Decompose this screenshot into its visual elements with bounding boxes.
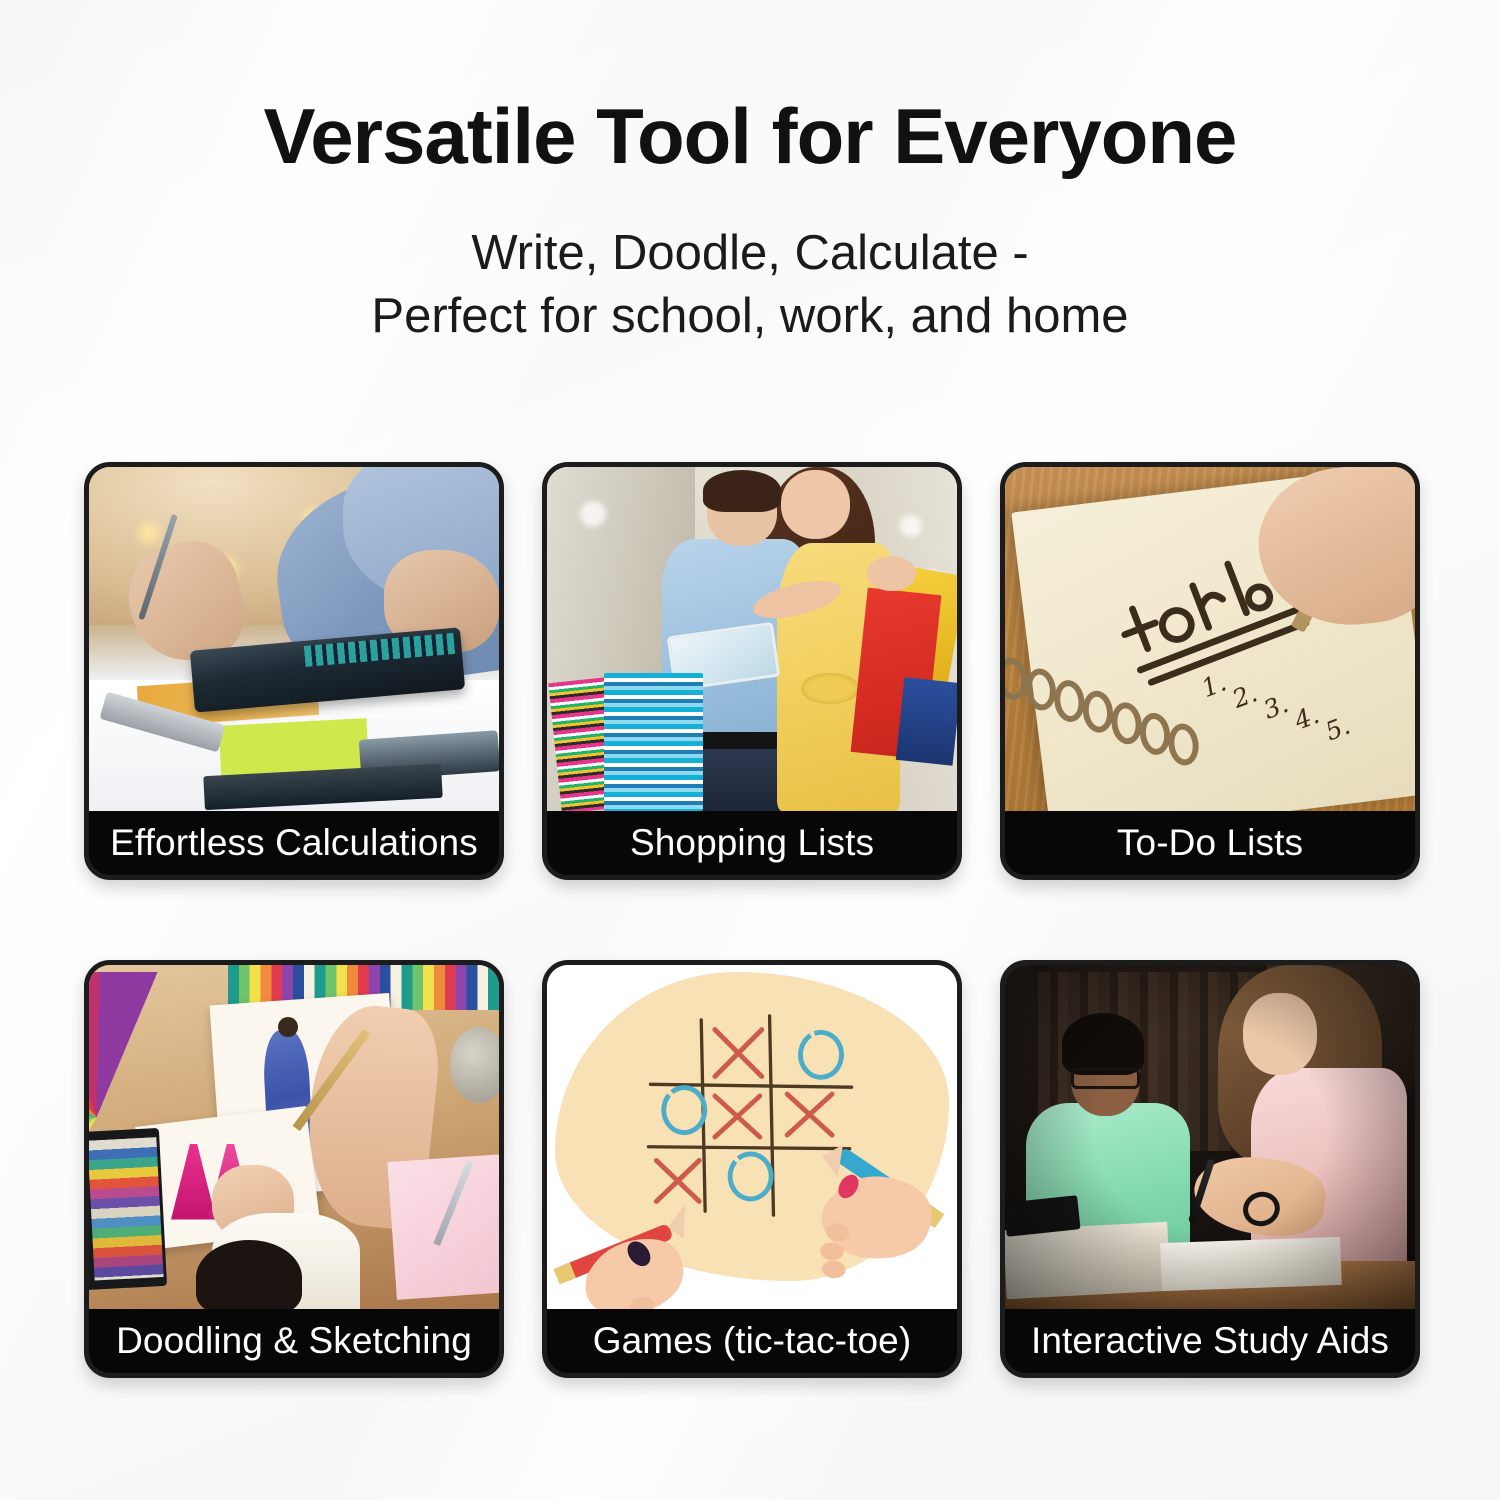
card-image-shopping-lists — [547, 467, 957, 811]
page-title: Versatile Tool for Everyone — [0, 96, 1500, 178]
card-image-to-do-lists: 1. 2. 3. 4. 5. — [1005, 467, 1415, 811]
feature-card-to-do-lists[interactable]: 1. 2. 3. 4. 5. — [1000, 462, 1420, 880]
header: Versatile Tool for Everyone Write, Doodl… — [0, 0, 1500, 347]
subtitle-line-2: Perfect for school, work, and home — [0, 285, 1500, 348]
card-label-doodling-sketching: Doodling & Sketching — [89, 1309, 499, 1373]
svg-text:4.: 4. — [1289, 699, 1323, 735]
product-infographic: Versatile Tool for Everyone Write, Doodl… — [0, 0, 1500, 1500]
card-label-interactive-study-aids: Interactive Study Aids — [1005, 1309, 1415, 1373]
right-hand-with-blue-pencil — [547, 965, 957, 1309]
svg-text:3.: 3. — [1259, 689, 1292, 725]
feature-card-games-tic-tac-toe[interactable]: Games (tic-tac-toe) — [542, 960, 962, 1378]
card-label-shopping-lists: Shopping Lists — [547, 811, 957, 875]
card-label-to-do-lists: To-Do Lists — [1005, 811, 1415, 875]
feature-card-doodling-sketching[interactable]: Doodling & Sketching — [84, 960, 504, 1378]
feature-card-effortless-calculations[interactable]: Effortless Calculations — [84, 462, 504, 880]
page-subtitle: Write, Doodle, Calculate - Perfect for s… — [0, 222, 1500, 347]
card-label-games-tic-tac-toe: Games (tic-tac-toe) — [547, 1309, 957, 1373]
svg-text:5.: 5. — [1321, 710, 1354, 746]
subtitle-line-1: Write, Doodle, Calculate - — [0, 222, 1500, 285]
feature-card-interactive-study-aids[interactable]: Interactive Study Aids — [1000, 960, 1420, 1378]
card-image-effortless-calculations — [89, 467, 499, 811]
feature-card-grid: Effortless Calculations — [84, 462, 1420, 1378]
card-label-effortless-calculations: Effortless Calculations — [89, 811, 499, 875]
card-image-interactive-study-aids — [1005, 965, 1415, 1309]
card-image-doodling-sketching — [89, 965, 499, 1309]
card-image-games-tic-tac-toe — [547, 965, 957, 1309]
feature-card-shopping-lists[interactable]: Shopping Lists — [542, 462, 962, 880]
